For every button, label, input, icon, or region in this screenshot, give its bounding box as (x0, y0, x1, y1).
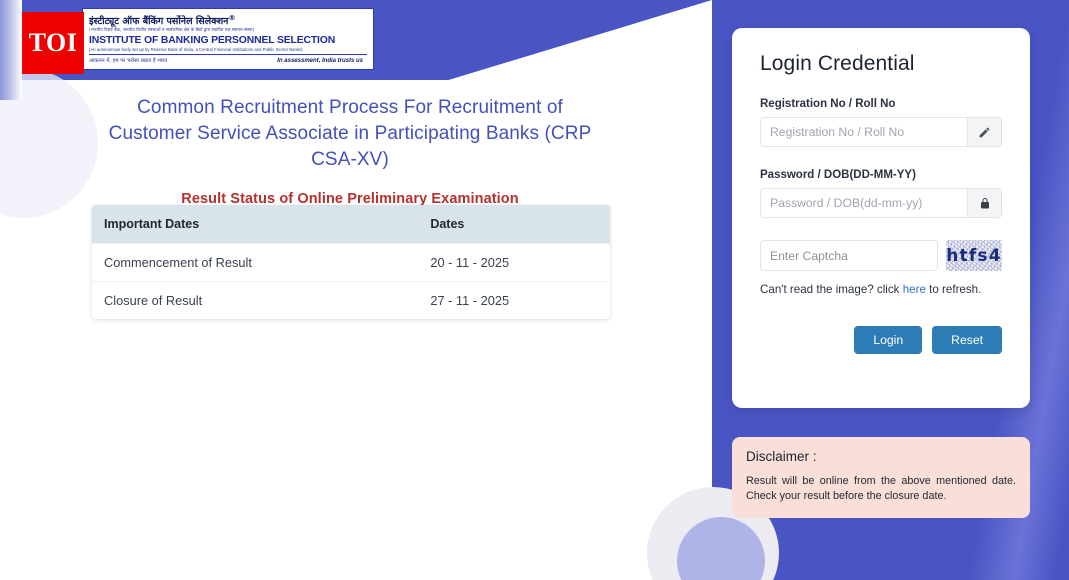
captcha-refresh-line: Can't read the image? click here to refr… (760, 283, 1002, 296)
pencil-icon[interactable] (967, 118, 1001, 146)
login-card: Login Credential Registration No / Roll … (732, 28, 1030, 408)
ibps-english-subtitle: (An autonomous body set up by Reserve Ba… (89, 47, 367, 53)
login-button-row: Login Reset (760, 326, 1002, 354)
table-header-row: Important Dates Dates (92, 205, 610, 244)
table-head: Important Dates Dates (92, 205, 610, 244)
table-body: Commencement of Result 20 - 11 - 2025 Cl… (92, 244, 610, 320)
captcha-refresh-prefix: Can't read the image? click (760, 283, 903, 296)
disclaimer-body: Result will be online from the above men… (746, 474, 1016, 504)
letterhead-divider (89, 54, 367, 55)
page-title: Common Recruitment Process For Recruitme… (100, 95, 600, 173)
table-row: Commencement of Result 20 - 11 - 2025 (92, 244, 610, 282)
captcha-refresh-link[interactable]: here (903, 283, 926, 296)
disclaimer-title: Disclaimer : (746, 449, 1016, 464)
left-edge-gradient (0, 0, 22, 100)
captcha-image-text: htfs4 (946, 246, 1002, 266)
column-header-event: Important Dates (92, 205, 418, 244)
registered-mark-icon: ® (228, 14, 235, 22)
login-card-title: Login Credential (760, 52, 1002, 76)
toi-watermark-logo: TOI (22, 12, 84, 74)
cell-event: Closure of Result (92, 282, 418, 320)
cell-date: 20 - 11 - 2025 (418, 244, 610, 282)
reset-button[interactable]: Reset (932, 326, 1002, 354)
ibps-hindi-name: इंस्टीट्यूट ऑफ बैंकिंग पर्सोनेल सिलेक्शन… (89, 13, 367, 27)
login-button[interactable]: Login (854, 326, 922, 354)
toi-logo-label: TOI (29, 30, 78, 56)
letterhead-footer: आकलन में, हम पर भरोसा रखता है भारत In as… (89, 56, 367, 64)
registration-input-row[interactable] (760, 117, 1002, 147)
lock-icon (967, 189, 1001, 217)
letterhead-footer-hindi: आकलन में, हम पर भरोसा रखता है भारत (89, 56, 167, 64)
ibps-letterhead: इंस्टीट्यूट ऑफ बैंकिंग पर्सोनेल सिलेक्शन… (82, 8, 374, 70)
table-row: Closure of Result 27 - 11 - 2025 (92, 282, 610, 320)
captcha-image: htfs4 (946, 240, 1002, 271)
main-content-left: Common Recruitment Process For Recruitme… (0, 95, 700, 207)
registration-input[interactable] (761, 118, 967, 146)
cell-event: Commencement of Result (92, 244, 418, 282)
letterhead-footer-english: In assessment, India trusts us (277, 58, 367, 64)
site-header: इंस्टीट्यूट ऑफ बैंकिंग पर्सोनेल सिलेक्शन… (22, 8, 352, 70)
ibps-hindi-subtitle: (भारतीय रिज़र्व बैंक, भारतीय वित्तीय संस… (89, 27, 367, 33)
captcha-input[interactable] (760, 240, 938, 271)
cell-date: 27 - 11 - 2025 (418, 282, 610, 320)
important-dates-card: Important Dates Dates Commencement of Re… (92, 205, 610, 319)
password-label: Password / DOB(DD-MM-YY) (760, 169, 1002, 181)
captcha-row: htfs4 (760, 240, 1002, 271)
column-header-date: Dates (418, 205, 610, 244)
captcha-refresh-suffix: to refresh. (926, 283, 981, 296)
password-input-row[interactable] (760, 188, 1002, 218)
ibps-hindi-text: इंस्टीट्यूट ऑफ बैंकिंग पर्सोनेल सिलेक्शन (89, 16, 228, 27)
disclaimer-card: Disclaimer : Result will be online from … (732, 437, 1030, 518)
important-dates-table: Important Dates Dates Commencement of Re… (92, 205, 610, 319)
ibps-english-name: INSTITUTE OF BANKING PERSONNEL SELECTION (89, 34, 367, 47)
registration-label: Registration No / Roll No (760, 98, 1002, 110)
password-input[interactable] (761, 189, 967, 217)
page-root: इंस्टीट्यूट ऑफ बैंकिंग पर्सोनेल सिलेक्शन… (0, 0, 1069, 580)
